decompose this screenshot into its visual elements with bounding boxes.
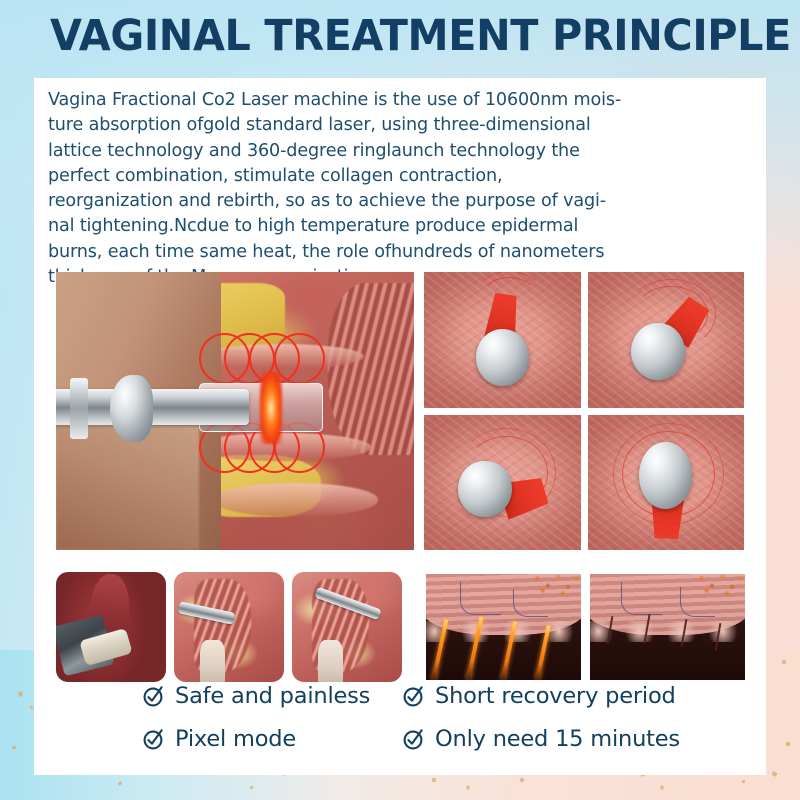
- rotation-step-4: [588, 415, 745, 551]
- 360-degree-rotation-sequence: [424, 272, 744, 550]
- confetti-speck: [19, 692, 23, 697]
- benefit-label: Short recovery period: [435, 683, 676, 709]
- speculum-insertion-photo: [56, 572, 166, 682]
- vaginal-laser-probe-anatomy-illustration: [56, 272, 414, 550]
- blood-vessel-1b: [513, 589, 548, 618]
- confetti-speck: [660, 785, 664, 790]
- probe-tip-ball-1: [476, 329, 529, 386]
- confetti-speck: [466, 785, 470, 790]
- anatomy-rugae-folds: [328, 283, 414, 455]
- benefit-item: Pixel mode: [142, 726, 296, 752]
- blood-vessel-1a: [460, 582, 501, 615]
- benefits-list: Safe and painlessPixel modeShort recover…: [34, 678, 766, 773]
- image-strip: [34, 568, 766, 693]
- check-circle-icon: [142, 727, 166, 751]
- media-row: [34, 270, 766, 600]
- benefit-item: Only need 15 minutes: [402, 726, 680, 752]
- benefit-item: Short recovery period: [402, 683, 676, 709]
- check-circle-icon: [402, 684, 426, 708]
- rotation-step-2: [588, 272, 745, 408]
- confetti-speck: [519, 777, 525, 783]
- benefit-item: Safe and painless: [142, 683, 370, 709]
- benefit-label: Only need 15 minutes: [435, 726, 680, 752]
- probe-inserted-section-2: [292, 572, 402, 682]
- confetti-speck: [742, 780, 746, 784]
- intro-paragraph: Vagina Fractional Co2 Laser machine is t…: [48, 88, 754, 290]
- mucosa-wave-2: [590, 621, 745, 642]
- confetti-speck: [781, 659, 786, 664]
- probe-inserted-section-1: [174, 572, 284, 682]
- check-circle-icon: [142, 684, 166, 708]
- anatomy-fold-bottom: [214, 483, 379, 516]
- confetti-speck: [118, 781, 123, 786]
- mucosa-microchannels: [590, 574, 745, 680]
- mucosa-wave-1: [426, 621, 581, 642]
- benefit-label: Pixel mode: [175, 726, 296, 752]
- probe-laser-glow: [260, 372, 281, 444]
- page-title: VAGINAL TREATMENT PRINCIPLE: [50, 9, 722, 63]
- cervix-structure-2: [318, 640, 342, 682]
- cervix-structure-1: [200, 640, 224, 682]
- mucosa-laser-beams: [426, 574, 581, 680]
- anatomy-thigh: [56, 425, 199, 550]
- confetti-speck: [785, 741, 791, 747]
- rotation-step-1: [424, 272, 581, 408]
- rotation-step-3: [424, 415, 581, 551]
- probe-handle-bulb: [110, 375, 153, 442]
- confetti-speck: [771, 771, 777, 777]
- confetti-speck: [29, 705, 33, 709]
- content-card: Vagina Fractional Co2 Laser machine is t…: [34, 78, 766, 775]
- confetti-speck: [12, 746, 16, 749]
- product-infographic-page: VAGINAL TREATMENT PRINCIPLE Vagina Fract…: [0, 0, 800, 800]
- probe-tip-ball-2: [631, 323, 684, 380]
- probe-tip-ball-3: [458, 461, 511, 518]
- title-bar: VAGINAL TREATMENT PRINCIPLE: [0, 0, 800, 78]
- laser-ring-4: [274, 333, 325, 384]
- probe-collar: [70, 378, 88, 439]
- blood-vessel-2b: [680, 587, 715, 618]
- check-circle-icon: [402, 727, 426, 751]
- confetti-speck: [432, 778, 437, 783]
- benefit-label: Safe and painless: [175, 683, 370, 709]
- confetti-speck: [249, 785, 253, 789]
- blood-vessel-2a: [621, 582, 662, 615]
